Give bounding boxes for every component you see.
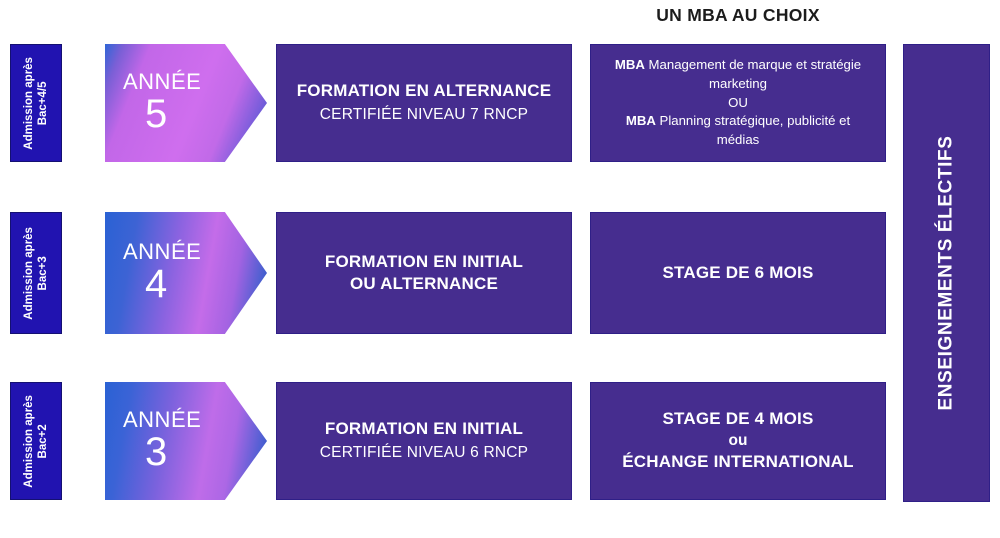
formation-panel-year4: FORMATION EN INITIAL OU ALTERNANCE <box>276 212 572 334</box>
stage-label-year3-line3: ÉCHANGE INTERNATIONAL <box>622 451 854 473</box>
formation-headline-year4-line2: OU ALTERNANCE <box>350 273 498 295</box>
admission-badge-year5-text: Admission après Bac+4/5 <box>22 57 51 150</box>
admission-line1: Admission après <box>22 395 36 488</box>
curriculum-diagram: Admission après Bac+4/5 ANNÉE 5 FORMATIO… <box>0 0 1000 538</box>
admission-badge-year5: Admission après Bac+4/5 <box>10 44 62 162</box>
year-arrow-4: ANNÉE 4 <box>105 212 267 334</box>
electives-label: ENSEIGNEMENTS ÉLECTIFS <box>936 135 958 410</box>
admission-badge-year3: Admission après Bac+2 <box>10 382 62 500</box>
admission-badge-year3-text: Admission après Bac+2 <box>22 395 51 488</box>
mba-option1-text: Management de marque et stratégie market… <box>645 57 861 91</box>
admission-line2: Bac+2 <box>36 395 50 488</box>
mba-separator: OU <box>728 95 748 110</box>
year-number-3: 3 <box>123 431 167 473</box>
stage-label-year3-line1: STAGE DE 4 MOIS <box>663 408 814 430</box>
year-label-5: ANNÉE <box>123 71 201 93</box>
year-arrow-3: ANNÉE 3 <box>105 382 267 500</box>
admission-line2: Bac+4/5 <box>36 57 50 150</box>
stage-label-year3-line2: ou <box>729 431 748 452</box>
mba-choice-panel: MBA Management de marque et stratégie ma… <box>590 44 886 162</box>
stage-panel-year4: STAGE DE 6 MOIS <box>590 212 886 334</box>
year-arrow-5: ANNÉE 5 <box>105 44 267 162</box>
formation-subline-year3: CERTIFIÉE NIVEAU 6 RNCP <box>320 443 528 464</box>
stage-panel-year3: STAGE DE 4 MOIS ou ÉCHANGE INTERNATIONAL <box>590 382 886 500</box>
electives-bar: ENSEIGNEMENTS ÉLECTIFS <box>903 44 990 502</box>
admission-badge-year4-text: Admission après Bac+3 <box>22 227 51 320</box>
formation-subline-year5: CERTIFIÉE NIVEAU 7 RNCP <box>320 105 528 126</box>
mba-choice-title: UN MBA AU CHOIX <box>590 5 886 26</box>
formation-headline-year3: FORMATION EN INITIAL <box>325 418 523 440</box>
formation-headline-year5: FORMATION EN ALTERNANCE <box>297 80 552 102</box>
mba-choice-body: MBA Management de marque et stratégie ma… <box>591 56 885 150</box>
formation-panel-year3: FORMATION EN INITIAL CERTIFIÉE NIVEAU 6 … <box>276 382 572 500</box>
formation-headline-year4-line1: FORMATION EN INITIAL <box>325 251 523 273</box>
admission-line2: Bac+3 <box>36 227 50 320</box>
formation-panel-year5: FORMATION EN ALTERNANCE CERTIFIÉE NIVEAU… <box>276 44 572 162</box>
admission-badge-year4: Admission après Bac+3 <box>10 212 62 334</box>
mba-option2-prefix: MBA <box>626 113 656 128</box>
year-number-5: 5 <box>123 93 167 135</box>
mba-option2-text: Planning stratégique, publicité et média… <box>656 113 850 147</box>
year-label-4: ANNÉE <box>123 241 201 263</box>
year-label-3: ANNÉE <box>123 409 201 431</box>
admission-line1: Admission après <box>22 57 36 150</box>
mba-option1-prefix: MBA <box>615 57 645 72</box>
admission-line1: Admission après <box>22 227 36 320</box>
year-number-4: 4 <box>123 263 167 305</box>
stage-label-year4: STAGE DE 6 MOIS <box>663 262 814 284</box>
